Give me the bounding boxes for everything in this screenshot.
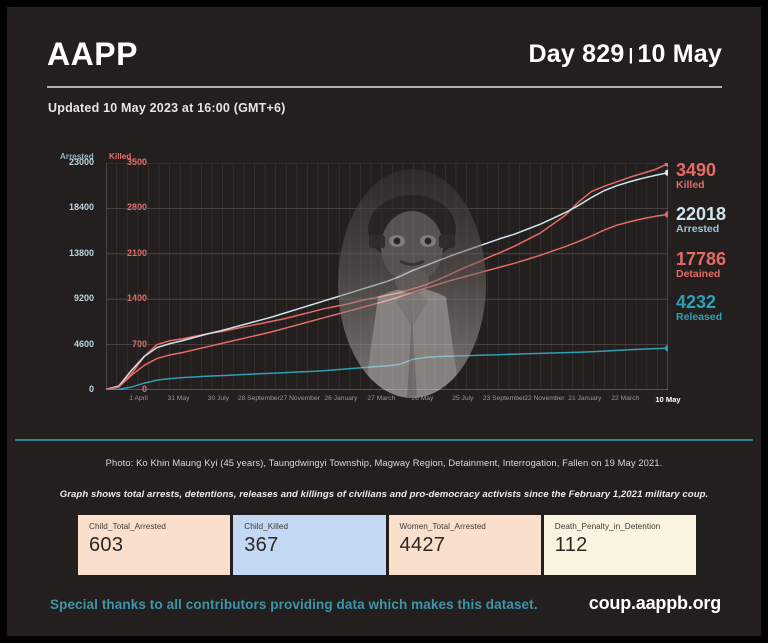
y-tick-arrested-0: 0 bbox=[48, 384, 94, 394]
stat-box-3[interactable]: Death_Penalty_in_Detention112 bbox=[544, 515, 696, 575]
x-tick-12: 22 March bbox=[611, 395, 639, 402]
header: AAPP Day 829|10 May bbox=[47, 30, 722, 88]
series-line-detained bbox=[106, 214, 668, 389]
endpoint-caption-detained: Detained bbox=[676, 268, 726, 280]
photo-caption: Photo: Ko Khin Maung Kyi (45 years), Tau… bbox=[7, 457, 761, 468]
series-endpoint-dot-arrested bbox=[665, 169, 668, 175]
y-tick-arrested-5: 23000 bbox=[48, 157, 94, 167]
website-link[interactable]: coup.aappb.org bbox=[589, 593, 721, 614]
endpoint-caption-released: Released bbox=[676, 311, 722, 323]
series-endpoint-dot-detained bbox=[665, 211, 668, 217]
y-tick-arrested-1: 4600 bbox=[48, 339, 94, 349]
stat-box-2[interactable]: Women_Total_Arrested4427 bbox=[389, 515, 541, 575]
thanks-text: Special thanks to all contributors provi… bbox=[50, 597, 538, 612]
stat-value-0: 603 bbox=[89, 534, 220, 557]
stat-box-1[interactable]: Child_Killed367 bbox=[233, 515, 385, 575]
x-tick-3: 28 September bbox=[238, 395, 280, 402]
x-tick-9: 23 September bbox=[483, 395, 525, 402]
stat-boxes: Child_Total_Arrested603Child_Killed367Wo… bbox=[78, 515, 696, 575]
stat-label-2: Women_Total_Arrested bbox=[400, 522, 531, 531]
header-rule bbox=[47, 86, 722, 88]
endpoint-label-detained: 17786Detained bbox=[676, 250, 726, 280]
endpoint-value-released: 4232 bbox=[676, 293, 722, 311]
x-tick-5: 26 January bbox=[324, 395, 357, 402]
stat-value-3: 112 bbox=[555, 534, 686, 557]
graph-description: Graph shows total arrests, detentions, r… bbox=[7, 489, 761, 500]
x-tick-7: 26 May bbox=[411, 395, 433, 402]
endpoint-label-arrested: 22018Arrested bbox=[676, 205, 726, 235]
day-label: Day 829 bbox=[529, 40, 625, 68]
stat-label-3: Death_Penalty_in_Detention bbox=[555, 522, 686, 531]
chart-svg bbox=[106, 163, 668, 390]
date-label: 10 May bbox=[637, 40, 722, 68]
day-separator: | bbox=[628, 45, 633, 65]
y-tick-arrested-3: 13800 bbox=[48, 248, 94, 258]
stat-box-0[interactable]: Child_Total_Arrested603 bbox=[78, 515, 230, 575]
series-line-killed bbox=[106, 164, 668, 390]
endpoint-caption-killed: Killed bbox=[676, 179, 716, 191]
y-tick-arrested-2: 9200 bbox=[48, 293, 94, 303]
day-counter: Day 829|10 May bbox=[529, 40, 722, 69]
series-line-arrested bbox=[106, 173, 668, 390]
x-tick-0: 1 April bbox=[129, 395, 148, 402]
endpoint-value-killed: 3490 bbox=[676, 161, 716, 179]
y-tick-arrested-4: 18400 bbox=[48, 202, 94, 212]
poster-root: AAPP Day 829|10 May Updated 10 May 2023 … bbox=[7, 7, 761, 636]
x-tick-2: 30 July bbox=[208, 395, 229, 402]
footer: Special thanks to all contributors provi… bbox=[7, 593, 761, 625]
x-tick-13: 10 May bbox=[655, 395, 680, 404]
series-line-released bbox=[106, 348, 668, 390]
endpoint-value-detained: 17786 bbox=[676, 250, 726, 268]
stat-label-0: Child_Total_Arrested bbox=[89, 522, 220, 531]
series-endpoint-dot-killed bbox=[665, 163, 668, 167]
x-tick-8: 25 July bbox=[452, 395, 473, 402]
updated-timestamp: Updated 10 May 2023 at 16:00 (GMT+6) bbox=[48, 101, 286, 115]
brand-title: AAPP bbox=[47, 36, 138, 73]
x-tick-1: 31 May bbox=[168, 395, 190, 402]
endpoint-value-arrested: 22018 bbox=[676, 205, 726, 223]
x-tick-11: 21 January bbox=[568, 395, 601, 402]
chart-container: Arrested Killed 046009200138001840023000… bbox=[48, 147, 728, 412]
section-divider bbox=[15, 439, 753, 441]
x-tick-6: 27 March bbox=[367, 395, 395, 402]
endpoint-label-released: 4232Released bbox=[676, 293, 722, 323]
x-tick-4: 27 November bbox=[280, 395, 320, 402]
series-endpoint-dot-released bbox=[665, 345, 668, 351]
endpoint-caption-arrested: Arrested bbox=[676, 223, 726, 235]
x-tick-10: 22 November bbox=[524, 395, 564, 402]
stat-value-1: 367 bbox=[244, 534, 375, 557]
stat-label-1: Child_Killed bbox=[244, 522, 375, 531]
endpoint-label-killed: 3490Killed bbox=[676, 161, 716, 191]
chart-plot-area bbox=[106, 163, 668, 390]
stat-value-2: 4427 bbox=[400, 534, 531, 557]
